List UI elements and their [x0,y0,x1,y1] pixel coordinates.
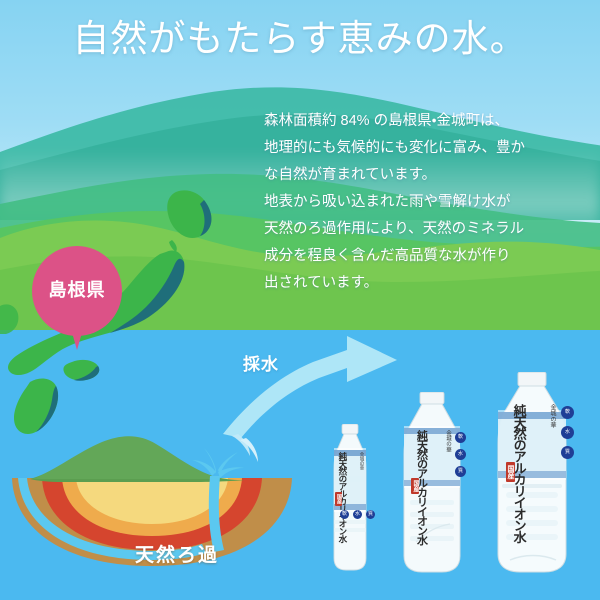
bottle-large-tag: 国産 [506,462,515,482]
bottle-dot: 水 [455,449,466,460]
bottle-medium-brand: 金城の華 [444,430,452,452]
description-line: 地理的にも気候的にも変化に富み、豊か [264,135,594,162]
bottle-dot: 軟 [561,406,574,419]
bottle-dot: 質 [366,510,375,519]
description-line: 森林面積約 84% の島根県・金城町は、 [264,108,594,135]
bottle-large-dots: 軟 水 質 [561,406,574,459]
description-line: 出されています。 [264,270,594,297]
bottle-small-tag: 国産 [335,492,342,506]
page-title: 自然がもたらす恵みの水。 [0,18,600,62]
description-block: 森林面積約 84% の島根県・金城町は、 地理的にも気候的にも変化に富み、豊か … [264,108,594,297]
arrow-label: 採水 [243,350,279,375]
description-line: 地表から吸い込まれた雨や雪解け水が [264,189,594,216]
bottle-dot: 水 [561,426,574,439]
bottle-dot: 質 [455,466,466,477]
bottle-dot: 質 [561,446,574,459]
bottle-small-dots: 軟 水 質 [340,510,375,519]
bottle-medium[interactable] [388,392,476,574]
description-line: な自然が育まれています。 [264,162,594,189]
pin-label: 島根県 [32,276,122,302]
bottle-dot: 軟 [455,432,466,443]
bottle-medium-tag: 国産 [411,478,419,494]
filtration-label: 天然ろ過 [112,540,242,567]
bottle-dot: 水 [353,510,362,519]
bottle-large[interactable] [480,372,584,574]
infographic-canvas: 自然がもたらす恵みの水。 森林面積約 84% の島根県・金城町は、 地理的にも気… [0,0,600,600]
description-line: 成分を程良く含んだ高品質な水が作り [264,243,594,270]
description-line: 天然のろ過作用により、天然のミネラル [264,216,594,243]
bottle-large-brand: 金城の華 [548,404,557,428]
bottle-small-brand: 金城の華 [359,452,365,470]
bottle-small[interactable] [322,424,378,572]
map-pin-shimane[interactable]: 島根県 [32,246,128,350]
bottle-dot: 軟 [340,510,349,519]
bottle-medium-dots: 軟 水 質 [455,432,466,477]
